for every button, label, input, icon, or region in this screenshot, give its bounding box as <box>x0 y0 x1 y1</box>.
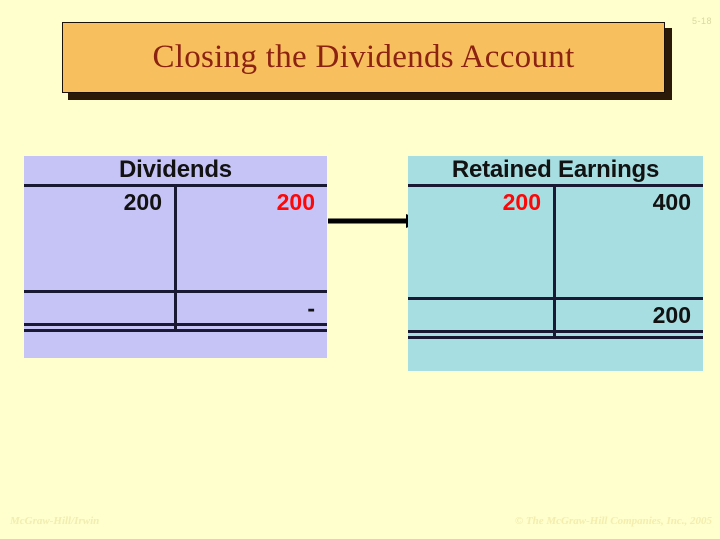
dividends-credit-1: 200 <box>174 187 327 217</box>
retained-earnings-credit-1: 400 <box>553 187 703 217</box>
t-account-retained-earnings: Retained Earnings 200 400 200 <box>408 156 703 371</box>
dividends-balance-debit <box>24 293 174 323</box>
table-row: 200 200 <box>24 187 327 217</box>
dividends-debit-2 <box>24 217 174 290</box>
dividends-debit-1: 200 <box>24 187 174 217</box>
table-row <box>408 217 703 297</box>
retained-earnings-balance-debit <box>408 300 553 330</box>
t-account-retained-earnings-title: Retained Earnings <box>408 156 703 184</box>
retained-earnings-debit-2 <box>408 217 553 297</box>
retained-earnings-credit-2 <box>553 217 703 297</box>
dividends-credit-2 <box>174 217 327 290</box>
slide-canvas: 5-18 Closing the Dividends Account Divid… <box>0 0 720 539</box>
retained-earnings-balance-credit: 200 <box>553 300 703 330</box>
slide-title-box: Closing the Dividends Account <box>62 22 665 93</box>
retained-earnings-balance-row: 200 <box>408 297 703 330</box>
dividends-balance-row: - <box>24 290 327 323</box>
table-row <box>24 217 327 290</box>
table-row: 200 400 <box>408 187 703 217</box>
dividends-balance-credit: - <box>174 293 327 323</box>
page-title: Closing the Dividends Account <box>152 39 574 76</box>
t-account-retained-earnings-body: 200 400 200 <box>408 184 703 339</box>
slide-number: 5-18 <box>692 16 712 26</box>
t-account-dividends-title: Dividends <box>24 156 327 184</box>
footer-publisher: McGraw-Hill/Irwin <box>10 515 99 527</box>
retained-earnings-debit-1: 200 <box>408 187 553 217</box>
footer-copyright: © The McGraw-Hill Companies, Inc., 2005 <box>515 515 712 527</box>
t-account-dividends: Dividends 200 200 - <box>24 156 327 358</box>
t-account-dividends-body: 200 200 - <box>24 184 327 332</box>
